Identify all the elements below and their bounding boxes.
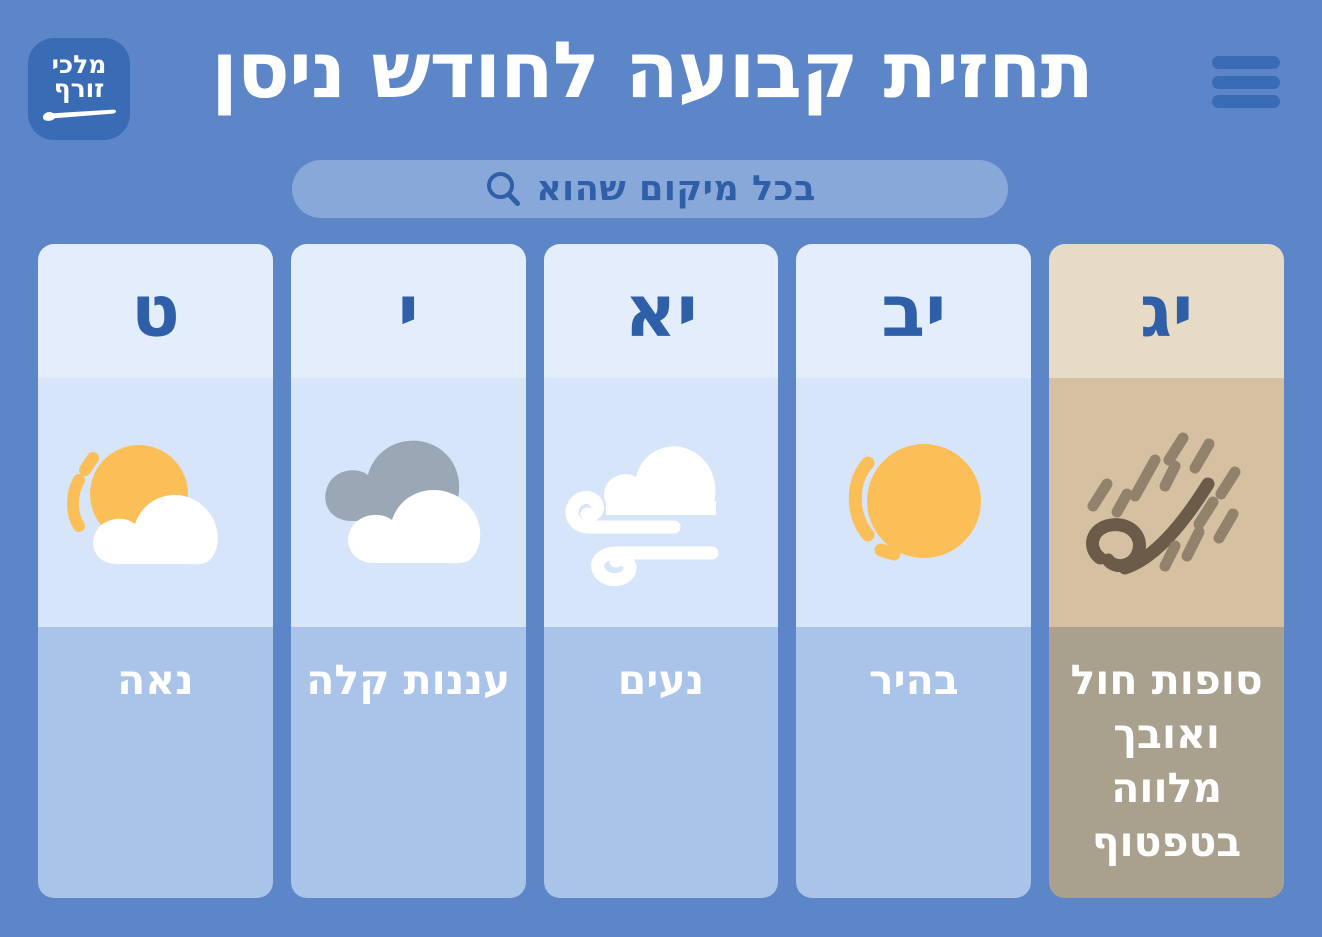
app-logo[interactable]: מלכי זורף	[28, 38, 130, 140]
hamburger-bar-3	[1212, 95, 1280, 108]
forecast-card[interactable]: י עננות קלה	[291, 244, 526, 898]
card-icon-area	[1049, 378, 1284, 627]
card-date: ט	[131, 271, 180, 351]
sun-behind-cloud-icon	[55, 418, 255, 588]
card-weather-label: סופות חול ואובך מלווה בטפטוף	[1049, 653, 1284, 898]
logo-line-2: זורף	[28, 76, 130, 102]
forecast-card[interactable]: יג	[1049, 244, 1284, 898]
card-label-area: בהיר	[796, 627, 1031, 898]
sun-icon	[824, 423, 1004, 583]
paintbrush-icon	[41, 108, 117, 122]
card-icon-area	[544, 378, 779, 627]
card-weather-label: עננות קלה	[298, 653, 518, 898]
forecast-card[interactable]: יב בהיר	[796, 244, 1031, 898]
hamburger-menu-icon[interactable]	[1212, 56, 1280, 108]
card-date: יא	[624, 271, 698, 351]
cloudy-icon	[308, 423, 508, 583]
card-weather-label: נאה	[109, 653, 202, 898]
card-label-area: נעים	[544, 627, 779, 898]
card-icon-area	[796, 378, 1031, 627]
card-header: יג	[1049, 244, 1284, 378]
hamburger-bar-1	[1212, 56, 1280, 69]
card-date: יב	[881, 271, 946, 351]
forecast-card[interactable]: ט נאה	[38, 244, 273, 898]
forecast-card-row: יג	[38, 244, 1284, 898]
forecast-card[interactable]: יא נעים	[544, 244, 779, 898]
search-icon[interactable]	[484, 170, 522, 208]
wind-cloud-icon	[556, 413, 766, 593]
hamburger-bar-2	[1212, 76, 1280, 89]
app-header: תחזית קבועה לחודש ניסן מלכי זורף	[0, 0, 1322, 150]
card-label-area: נאה	[38, 627, 273, 898]
card-icon-area	[38, 378, 273, 627]
card-header: ט	[38, 244, 273, 378]
card-date: י	[398, 271, 419, 351]
card-header: י	[291, 244, 526, 378]
card-icon-area	[291, 378, 526, 627]
card-header: יב	[796, 244, 1031, 378]
card-label-area: עננות קלה	[291, 627, 526, 898]
search-placeholder: בכל מיקום שהוא	[536, 169, 816, 209]
card-header: יא	[544, 244, 779, 378]
card-label-area: סופות חול ואובך מלווה בטפטוף	[1049, 627, 1284, 898]
card-weather-label: בהיר	[861, 653, 967, 898]
card-date: יג	[1140, 271, 1193, 351]
page-title: תחזית קבועה לחודש ניסן	[137, 16, 1167, 126]
sandstorm-icon	[1069, 408, 1265, 598]
search-input[interactable]: בכל מיקום שהוא	[292, 160, 1008, 218]
card-weather-label: נעים	[610, 653, 713, 898]
